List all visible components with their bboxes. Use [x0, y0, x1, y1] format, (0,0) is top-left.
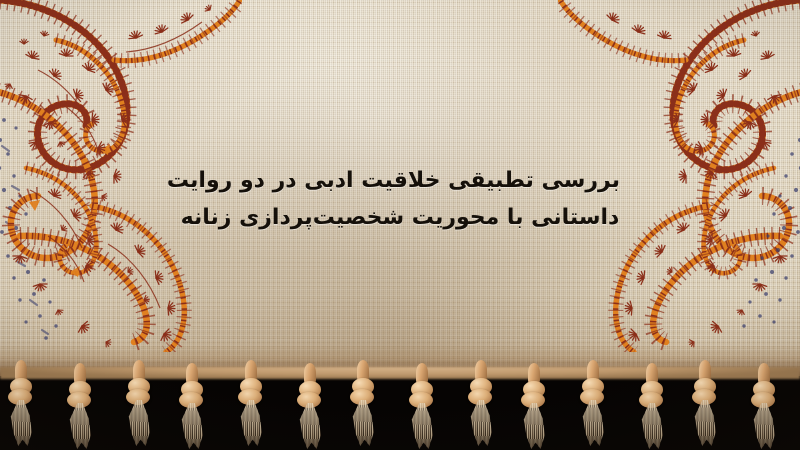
tassel-brush — [520, 403, 547, 449]
tassel-brush — [638, 403, 665, 449]
tassel-brush — [237, 400, 264, 446]
tassel — [234, 360, 268, 450]
tassel-brush — [579, 400, 606, 446]
tassel — [63, 363, 97, 450]
tassel-brush — [467, 400, 494, 446]
tassel-brush — [691, 400, 718, 446]
tassel — [747, 363, 781, 450]
tassel — [122, 360, 156, 450]
tassel-brush — [296, 403, 323, 449]
tassel — [635, 363, 669, 450]
tassel — [688, 360, 722, 450]
tassel-brush — [178, 403, 205, 449]
title-block: بررسی تطبیقی خلاقیت ادبی در دو روایت داس… — [180, 162, 620, 236]
tassel — [517, 363, 551, 450]
tassel — [464, 360, 498, 450]
tassel-brush — [408, 403, 435, 449]
tassel-brush — [349, 400, 376, 446]
tassel — [175, 363, 209, 450]
title-line-1: بررسی تطبیقی خلاقیت ادبی در دو روایت — [180, 162, 620, 199]
tassel-brush — [7, 400, 34, 446]
tassel — [405, 363, 439, 450]
tassel-brush — [125, 400, 152, 446]
tassel — [576, 360, 610, 450]
tassel-brush — [750, 403, 777, 449]
tassel — [293, 363, 327, 450]
title-line-2: داستانی با محوریت شخصیت‌پردازی زنانه — [180, 199, 620, 236]
tassel — [4, 360, 38, 450]
tassel — [346, 360, 380, 450]
tassel-brush — [66, 403, 93, 449]
title-card-canvas: بررسی تطبیقی خلاقیت ادبی در دو روایت داس… — [0, 0, 800, 450]
tassel-fringe — [0, 360, 800, 450]
